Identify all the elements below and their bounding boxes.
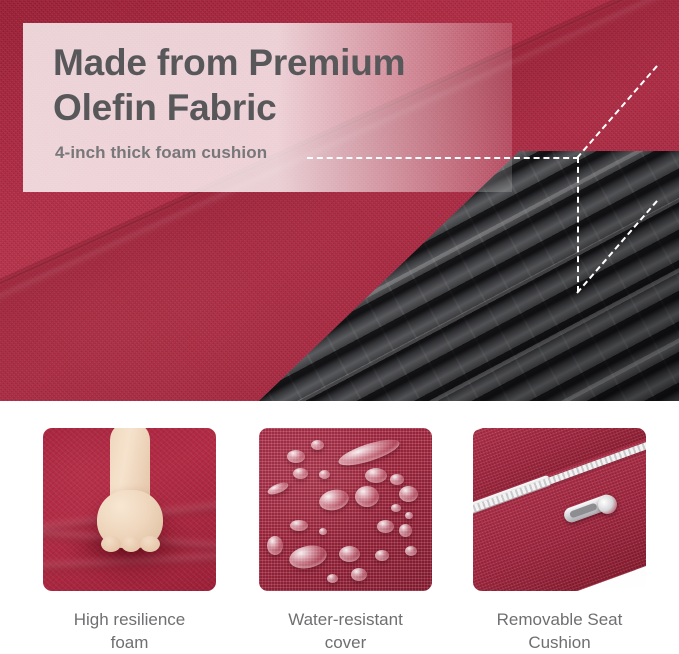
knuckle bbox=[140, 536, 160, 552]
water-droplet bbox=[405, 546, 417, 556]
feature-item-removable-seat-cushion: Removable Seat Cushion bbox=[473, 428, 646, 654]
water-droplet bbox=[355, 486, 379, 507]
knuckle bbox=[121, 536, 141, 552]
water-droplet bbox=[375, 550, 389, 561]
water-droplet bbox=[319, 528, 327, 535]
feature-strip: High resilience foam bbox=[0, 401, 679, 652]
feature-thumbnail-fist-pressing-cushion bbox=[43, 428, 216, 591]
feature-caption: High resilience foam bbox=[43, 608, 216, 654]
knuckle bbox=[101, 536, 121, 552]
feature-caption: Removable Seat Cushion bbox=[473, 608, 646, 654]
water-droplet bbox=[390, 474, 404, 485]
hero-subheadline: 4-inch thick foam cushion bbox=[55, 143, 267, 163]
water-droplet bbox=[311, 440, 324, 450]
feature-item-water-resistant-cover: Water-resistant cover bbox=[259, 428, 432, 654]
fist bbox=[97, 490, 163, 548]
feature-caption: Water-resistant cover bbox=[259, 608, 432, 654]
feature-thumbnail-water-droplets bbox=[259, 428, 432, 591]
water-droplet bbox=[399, 486, 418, 502]
water-droplet bbox=[365, 468, 387, 483]
water-droplet bbox=[351, 568, 367, 581]
feature-item-high-resilience-foam: High resilience foam bbox=[43, 428, 216, 654]
callout-vertical-dashed-line bbox=[577, 157, 579, 292]
hero-headline: Made from Premium Olefin Fabric bbox=[53, 40, 493, 130]
water-droplet bbox=[267, 536, 283, 555]
water-droplet bbox=[287, 450, 305, 463]
water-droplet bbox=[377, 520, 394, 533]
headline-overlay-panel: Made from Premium Olefin Fabric 4-inch t… bbox=[23, 23, 512, 192]
water-droplet bbox=[339, 546, 360, 562]
water-droplet bbox=[405, 512, 413, 519]
feature-thumbnail-zipper bbox=[473, 428, 646, 591]
water-droplet bbox=[391, 504, 401, 512]
hero-product-image: Made from Premium Olefin Fabric 4-inch t… bbox=[0, 0, 679, 401]
water-droplet bbox=[293, 468, 308, 479]
water-droplet bbox=[327, 574, 338, 583]
water-droplet bbox=[399, 524, 412, 537]
water-droplet bbox=[319, 470, 330, 479]
water-droplet bbox=[290, 520, 308, 531]
